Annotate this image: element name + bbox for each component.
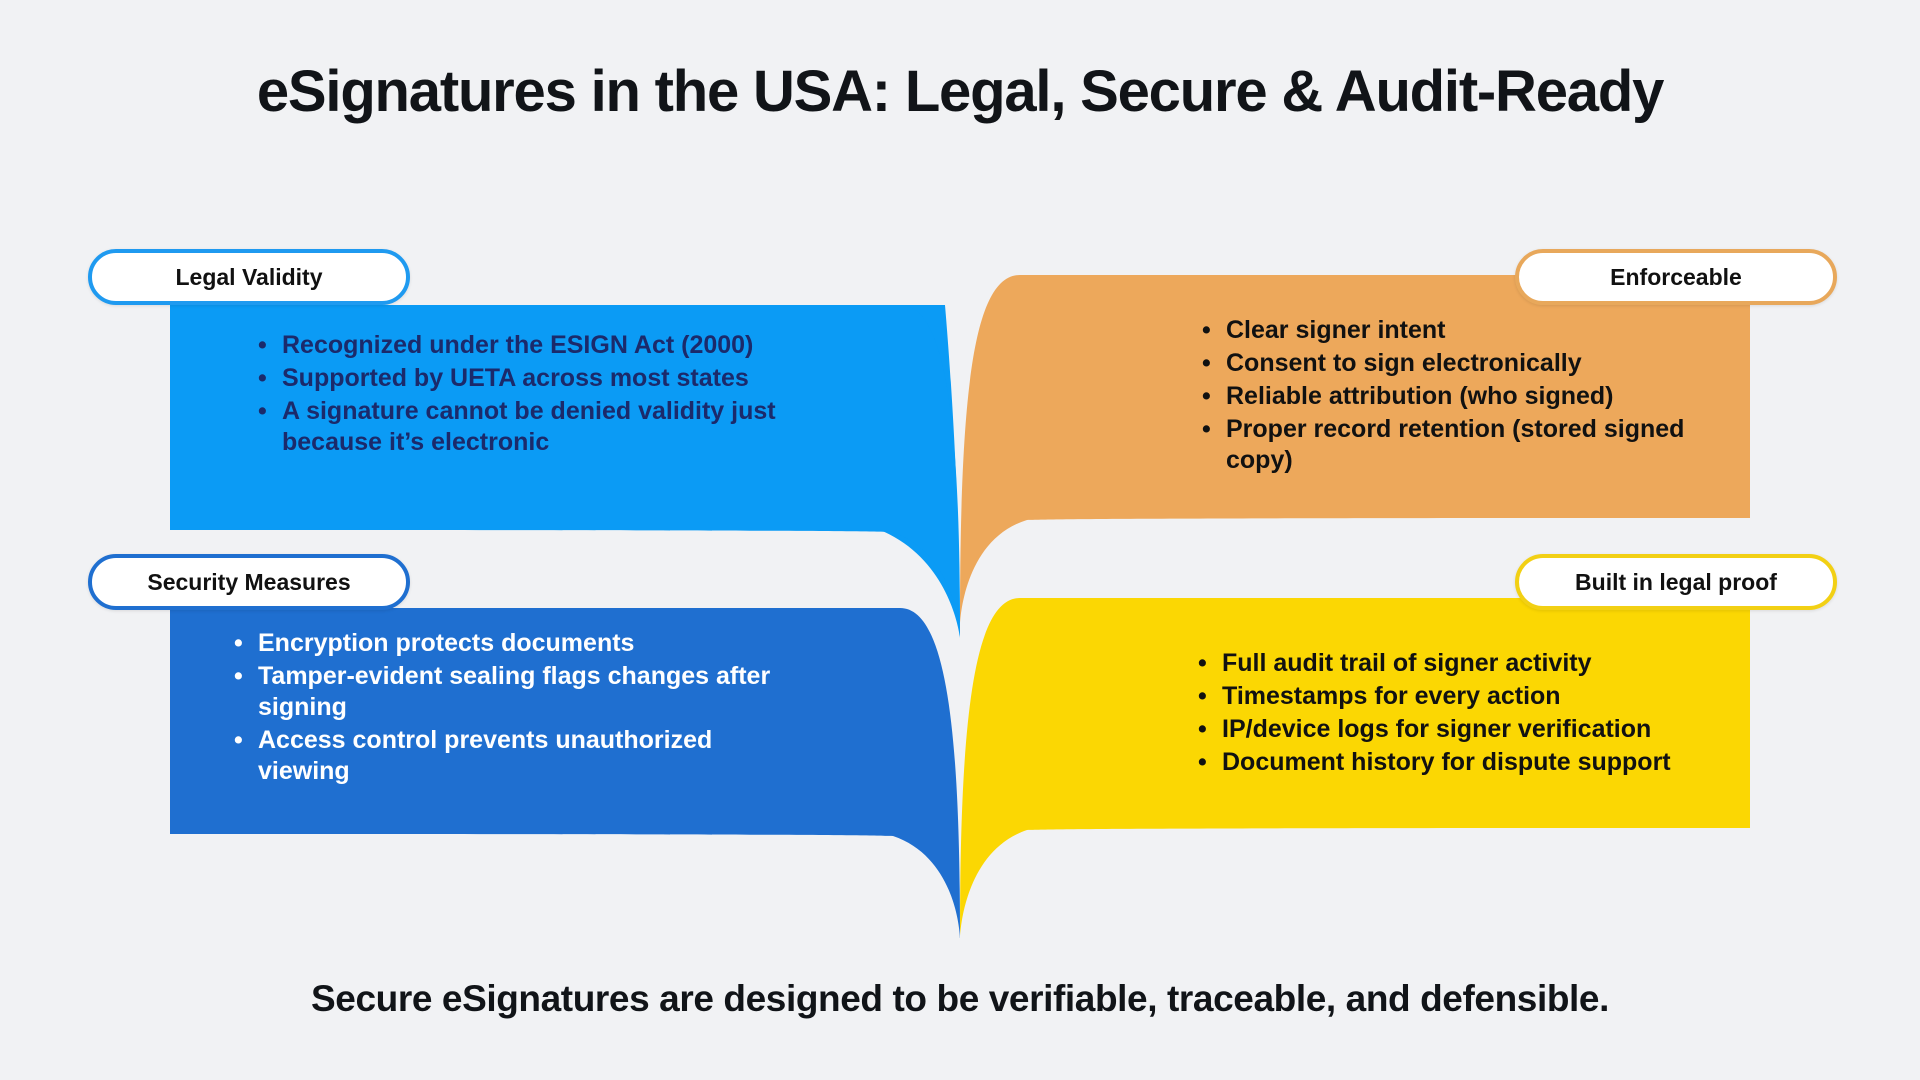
bullet-item: •Clear signer intent	[1196, 315, 1756, 346]
bullet-item: •Access control prevents unauthorized vi…	[228, 725, 808, 787]
panel-content-built-in-legal-proof: •Full audit trail of signer activity•Tim…	[1192, 648, 1752, 780]
panel-label-enforceable[interactable]: Enforceable	[1515, 249, 1837, 305]
bullet-list: •Encryption protects documents•Tamper-ev…	[228, 628, 808, 787]
bullet-item-label: Recognized under the ESIGN Act (2000)	[282, 331, 753, 359]
panel-label-legal-validity[interactable]: Legal Validity	[88, 249, 410, 305]
bullet-dot-icon: •	[258, 363, 267, 394]
bullet-dot-icon: •	[1198, 681, 1207, 712]
bullet-item: •IP/device logs for signer verification	[1192, 714, 1752, 745]
bullet-item-label: Full audit trail of signer activity	[1222, 649, 1592, 677]
bullet-item-label: Supported by UETA across most states	[282, 364, 749, 392]
bullet-item: •Recognized under the ESIGN Act (2000)	[252, 330, 812, 361]
panel-label-text: Built in legal proof	[1575, 569, 1777, 596]
bullet-list: •Recognized under the ESIGN Act (2000)•S…	[252, 330, 812, 458]
bullet-item: •Tamper-evident sealing flags changes af…	[228, 661, 808, 723]
bullet-item-label: Proper record retention (stored signed c…	[1226, 415, 1684, 474]
bullet-item-label: Consent to sign electronically	[1226, 349, 1582, 377]
bullet-item: •Encryption protects documents	[228, 628, 808, 659]
panel-content-enforceable: •Clear signer intent•Consent to sign ele…	[1196, 315, 1756, 478]
panel-label-text: Enforceable	[1610, 264, 1742, 291]
bullet-dot-icon: •	[1202, 348, 1211, 379]
panel-label-built-in-legal-proof[interactable]: Built in legal proof	[1515, 554, 1837, 610]
bullet-dot-icon: •	[1198, 648, 1207, 679]
bullet-item: •Consent to sign electronically	[1196, 348, 1756, 379]
bullet-item: •Document history for dispute support	[1192, 747, 1752, 778]
panel-label-security-measures[interactable]: Security Measures	[88, 554, 410, 610]
bullet-item: •Full audit trail of signer activity	[1192, 648, 1752, 679]
panel-label-text: Legal Validity	[176, 264, 323, 291]
bullet-item: •Supported by UETA across most states	[252, 363, 812, 394]
bullet-item: •Reliable attribution (who signed)	[1196, 381, 1756, 412]
bullet-dot-icon: •	[1198, 747, 1207, 778]
bullet-item-label: A signature cannot be denied validity ju…	[282, 397, 776, 456]
bullet-dot-icon: •	[1202, 381, 1211, 412]
bullet-item: •Proper record retention (stored signed …	[1196, 414, 1756, 476]
bullet-dot-icon: •	[258, 330, 267, 361]
bullet-dot-icon: •	[234, 661, 243, 692]
bullet-item-label: IP/device logs for signer verification	[1222, 715, 1651, 743]
bullet-list: •Clear signer intent•Consent to sign ele…	[1196, 315, 1756, 476]
bullet-item-label: Reliable attribution (who signed)	[1226, 382, 1614, 410]
bullet-dot-icon: •	[234, 725, 243, 756]
panel-content-legal-validity: •Recognized under the ESIGN Act (2000)•S…	[252, 330, 812, 460]
panel-content-security-measures: •Encryption protects documents•Tamper-ev…	[228, 628, 808, 789]
bullet-item-label: Clear signer intent	[1226, 316, 1446, 344]
bullet-dot-icon: •	[234, 628, 243, 659]
bullet-dot-icon: •	[1202, 315, 1211, 346]
bullet-item-label: Timestamps for every action	[1222, 682, 1561, 710]
bullet-item: •A signature cannot be denied validity j…	[252, 396, 812, 458]
bullet-item-label: Tamper-evident sealing flags changes aft…	[258, 662, 770, 721]
panel-label-text: Security Measures	[147, 569, 350, 596]
footer-caption: Secure eSignatures are designed to be ve…	[0, 978, 1920, 1020]
bullet-item-label: Access control prevents unauthorized vie…	[258, 726, 712, 785]
bullet-item-label: Encryption protects documents	[258, 629, 634, 657]
panel-shapes-group	[0, 0, 1920, 1080]
bullet-list: •Full audit trail of signer activity•Tim…	[1192, 648, 1752, 778]
bullet-item-label: Document history for dispute support	[1222, 748, 1671, 776]
bullet-item: •Timestamps for every action	[1192, 681, 1752, 712]
bullet-dot-icon: •	[258, 396, 267, 427]
bullet-dot-icon: •	[1198, 714, 1207, 745]
bullet-dot-icon: •	[1202, 414, 1211, 445]
infographic-canvas: eSignatures in the USA: Legal, Secure & …	[0, 0, 1920, 1080]
